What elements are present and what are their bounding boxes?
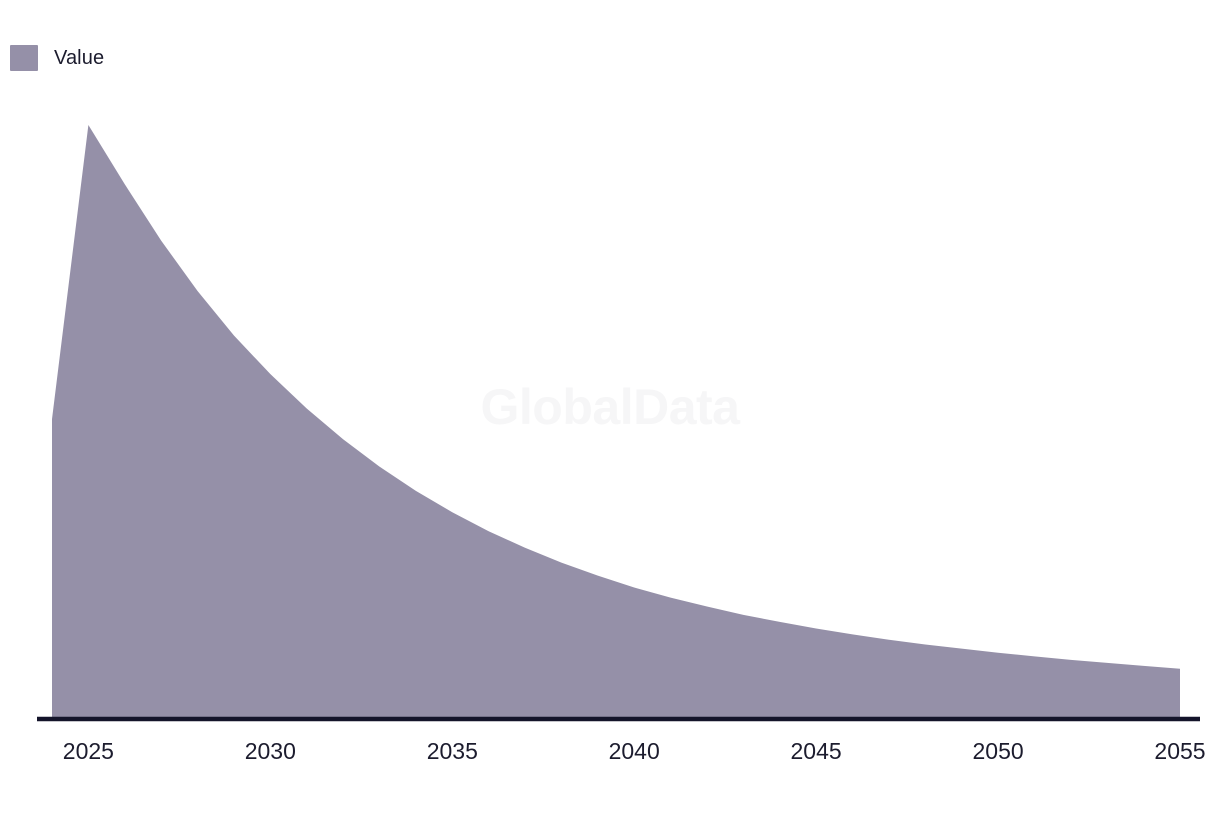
series-area-value [52, 125, 1180, 718]
x-axis-tick-2030: 2030 [245, 736, 296, 766]
plot-area [0, 0, 1220, 816]
x-axis-tick-2040: 2040 [609, 736, 660, 766]
x-axis-tick-2025: 2025 [63, 736, 114, 766]
x-axis-tick-2050: 2050 [973, 736, 1024, 766]
area-chart-figure: Value GlobalData 20252030203520402045205… [0, 0, 1220, 816]
x-axis-tick-2055: 2055 [1154, 736, 1205, 766]
x-axis-tick-2035: 2035 [427, 736, 478, 766]
x-axis-tick-2045: 2045 [791, 736, 842, 766]
x-axis-tick-labels: 2025203020352040204520502055 [0, 736, 1220, 772]
